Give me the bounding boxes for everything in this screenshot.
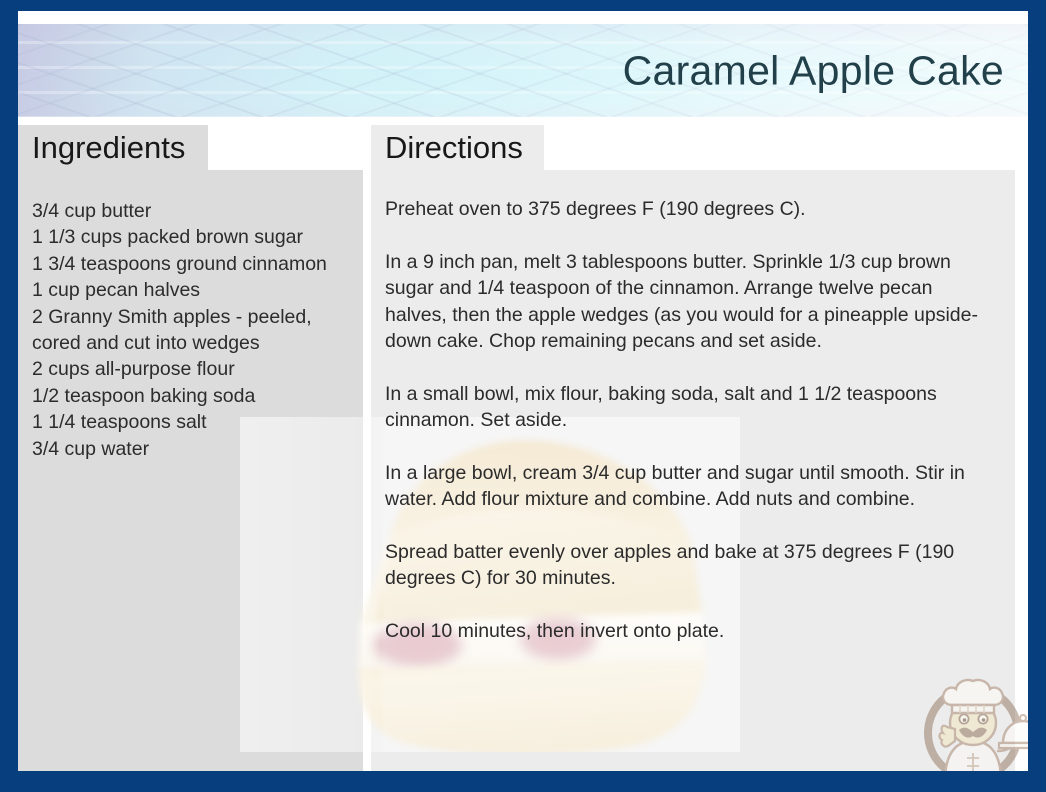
direction-step: In a small bowl, mix flour, baking soda,… bbox=[385, 381, 997, 434]
ingredients-heading-tab: Ingredients bbox=[18, 125, 208, 170]
directions-list: Preheat oven to 375 degrees F (190 degre… bbox=[385, 196, 997, 644]
list-item: 1 1/3 cups packed brown sugar bbox=[32, 224, 349, 250]
page-title: Caramel Apple Cake bbox=[623, 50, 1004, 91]
list-item: 1/2 teaspoon baking soda bbox=[32, 383, 349, 409]
recipe-slide: Caramel Apple Cake bbox=[0, 0, 1046, 792]
list-item: 2 Granny Smith apples - peeled, cored an… bbox=[32, 304, 349, 357]
header-banner: Caramel Apple Cake bbox=[18, 24, 1028, 117]
ingredients-list: 3/4 cup butter 1 1/3 cups packed brown s… bbox=[32, 198, 349, 462]
list-item: 1 cup pecan halves bbox=[32, 277, 349, 303]
directions-heading: Directions bbox=[385, 132, 523, 163]
direction-step: Preheat oven to 375 degrees F (190 degre… bbox=[385, 196, 997, 223]
list-item: 1 3/4 teaspoons ground cinnamon bbox=[32, 251, 349, 277]
list-item: 3/4 cup water bbox=[32, 436, 349, 462]
ingredients-heading: Ingredients bbox=[32, 132, 185, 163]
list-item: 3/4 cup butter bbox=[32, 198, 349, 224]
ingredients-column: Ingredients 3/4 cup butter 1 1/3 cups pa… bbox=[18, 125, 363, 771]
direction-step: In a large bowl, cream 3/4 cup butter an… bbox=[385, 460, 997, 513]
directions-column: Directions Preheat oven to 375 degrees F… bbox=[371, 125, 1015, 771]
list-item: 2 cups all-purpose flour bbox=[32, 356, 349, 382]
list-item: 1 1/4 teaspoons salt bbox=[32, 409, 349, 435]
direction-step: In a 9 inch pan, melt 3 tablespoons butt… bbox=[385, 249, 997, 355]
directions-heading-tab: Directions bbox=[371, 125, 544, 170]
ingredients-panel: 3/4 cup butter 1 1/3 cups packed brown s… bbox=[18, 170, 363, 771]
slide-page: Caramel Apple Cake bbox=[18, 11, 1028, 771]
direction-step: Cool 10 minutes, then invert onto plate. bbox=[385, 618, 997, 645]
directions-panel: Preheat oven to 375 degrees F (190 degre… bbox=[371, 170, 1015, 771]
direction-step: Spread batter evenly over apples and bak… bbox=[385, 539, 997, 592]
